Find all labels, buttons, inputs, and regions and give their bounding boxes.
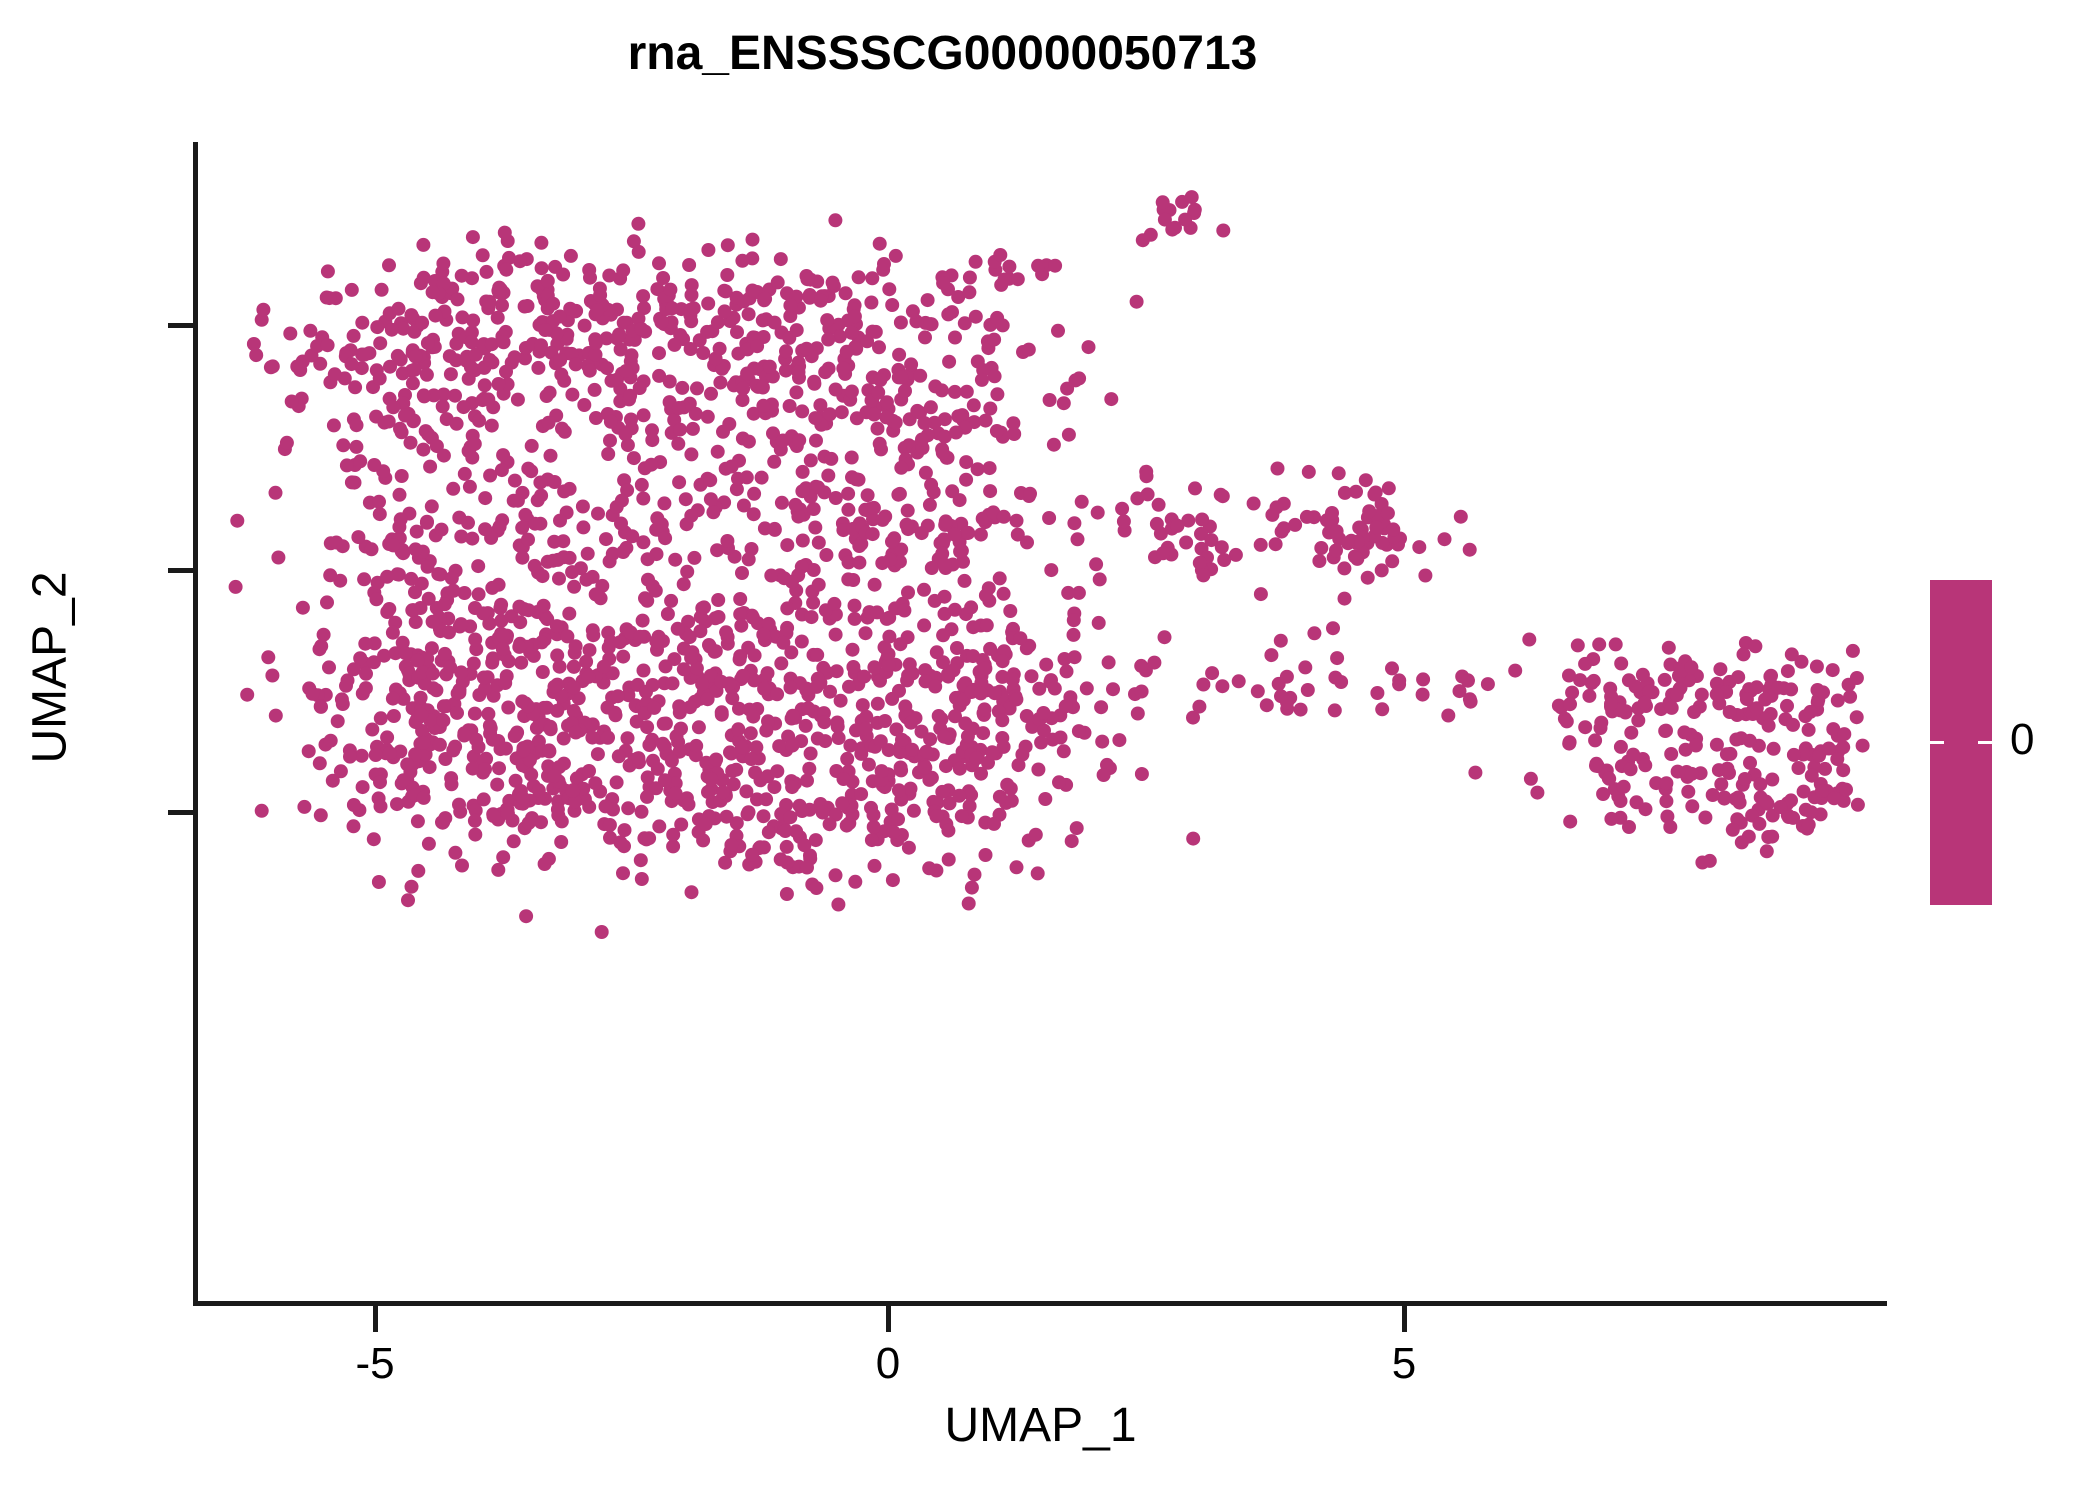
y-tick-mark-4 xyxy=(168,323,194,328)
x-tick-mark-0 xyxy=(886,1306,891,1332)
page-title: rna_ENSSSCG00000050713 xyxy=(0,26,1885,81)
x-axis-title: UMAP_1 xyxy=(196,1398,1885,1453)
y-axis-title: UMAP_2 xyxy=(23,468,78,868)
x-tick-mark-5 xyxy=(1402,1306,1407,1332)
colorbar-label-0: 0 xyxy=(2010,718,2034,762)
colorbar-tick-right xyxy=(1978,741,1992,744)
umap-scatter-plot: rna_ENSSSCG00000050713 4 0 -4 -5 0 5 UMA… xyxy=(0,0,2100,1500)
y-tick-mark-neg4 xyxy=(168,810,194,815)
y-tick-mark-0 xyxy=(168,568,194,573)
x-tick-label-neg5: -5 xyxy=(295,1342,455,1386)
plot-panel xyxy=(196,142,1885,1303)
x-axis-line xyxy=(193,1301,1887,1306)
x-tick-mark-neg5 xyxy=(373,1306,378,1332)
scatter-points-layer xyxy=(196,142,1885,1303)
colorbar-tick-left xyxy=(1930,741,1944,744)
x-tick-label-0: 0 xyxy=(808,1342,968,1386)
x-tick-label-5: 5 xyxy=(1324,1342,1484,1386)
y-axis-line xyxy=(193,142,198,1306)
